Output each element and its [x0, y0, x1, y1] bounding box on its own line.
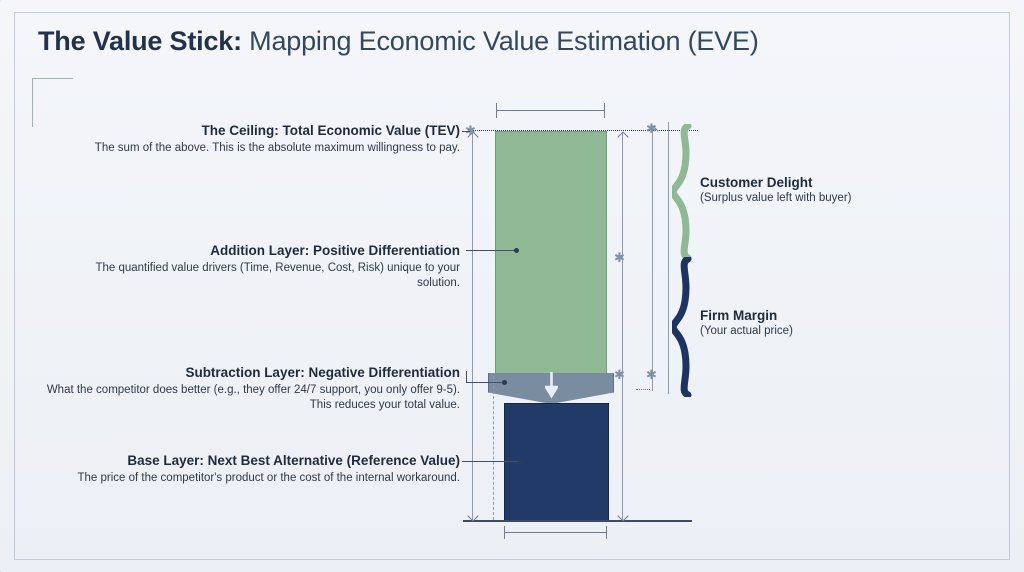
brace-guide-line — [668, 122, 669, 394]
base-extension-dashed-line — [493, 376, 494, 520]
customer-delight-sub: (Surplus value left with buyer) — [700, 191, 851, 206]
firm-margin-brace — [672, 257, 698, 397]
label-customer-delight: Customer Delight (Surplus value left wit… — [700, 174, 851, 206]
star-tick-icon: ✱ — [646, 122, 657, 135]
label-base-sub: The price of the competitor's product or… — [20, 471, 460, 486]
title-strong: The Value Stick: — [38, 26, 242, 56]
dimension-tick — [606, 526, 607, 539]
label-firm-margin: Firm Margin (Your actual price) — [700, 307, 793, 339]
star-tick-icon: ✱ — [614, 251, 625, 264]
firm-margin-sub: (Your actual price) — [700, 324, 793, 339]
leader-dot-addition — [514, 248, 519, 253]
small-dotted-connector — [636, 389, 650, 390]
leader-dot-subtraction — [502, 380, 507, 385]
leader-line-subtraction — [466, 382, 506, 383]
down-arrow-icon — [545, 372, 558, 400]
leader-line-ceiling — [462, 131, 470, 132]
label-ceiling: The Ceiling: Total Economic Value (TEV) … — [60, 122, 460, 156]
label-subtraction-heading: Subtraction Layer: Negative Differentiat… — [40, 364, 460, 381]
label-subtraction-sub: What the competitor does better (e.g., t… — [40, 383, 460, 412]
dimension-tick — [604, 103, 605, 118]
label-ceiling-sub: The sum of the above. This is the absolu… — [60, 141, 460, 156]
star-tick-icon: ✱ — [646, 368, 657, 381]
label-addition-heading: Addition Layer: Positive Differentiation — [60, 242, 460, 259]
right-total-dimension-line — [622, 132, 623, 520]
dimension-tick — [504, 526, 505, 539]
page-title: The Value Stick: Mapping Economic Value … — [38, 26, 759, 57]
star-tick-icon: ✱ — [614, 368, 625, 381]
customer-delight-brace — [672, 124, 698, 260]
leader-line-base — [462, 461, 522, 462]
baseline-rule — [463, 520, 692, 522]
label-addition: Addition Layer: Positive Differentiation… — [60, 242, 460, 290]
corner-bracket-decoration — [32, 78, 73, 127]
leader-dot-base — [518, 459, 523, 464]
addition-layer-block — [495, 131, 607, 376]
label-subtraction: Subtraction Layer: Negative Differentiat… — [40, 364, 460, 412]
diagram-canvas: The Value Stick: Mapping Economic Value … — [0, 0, 1024, 572]
bottom-width-dimension — [504, 532, 607, 533]
label-ceiling-heading: The Ceiling: Total Economic Value (TEV) — [60, 122, 460, 139]
label-addition-sub: The quantified value drivers (Time, Reve… — [60, 261, 460, 290]
dimension-tick — [496, 103, 497, 118]
firm-margin-heading: Firm Margin — [700, 307, 793, 324]
label-base-heading: Base Layer: Next Best Alternative (Refer… — [20, 452, 460, 469]
label-base: Base Layer: Next Best Alternative (Refer… — [20, 452, 460, 486]
customer-delight-heading: Customer Delight — [700, 174, 851, 191]
top-width-dimension — [496, 110, 605, 111]
leader-line-addition — [466, 250, 518, 251]
dimension-arrowhead — [617, 131, 628, 142]
delight-margin-dimension-line — [652, 126, 653, 391]
title-light: Mapping Economic Value Estimation (EVE) — [242, 26, 759, 56]
